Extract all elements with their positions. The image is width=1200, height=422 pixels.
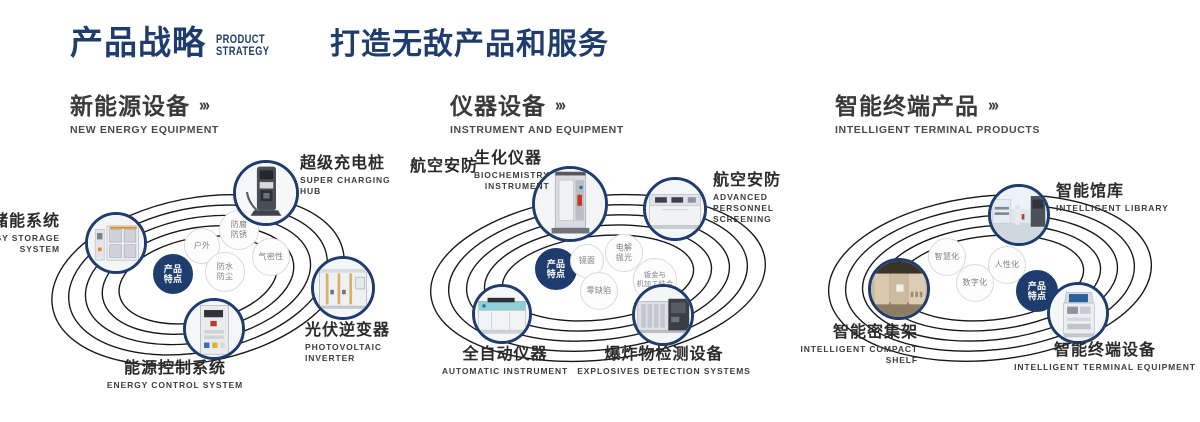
cluster-instrument-and-equipment: 产品 特点 镜面 电解 抛光 零缺陷 钣金与 机加工结合 [400,150,800,400]
node-energy-control-system[interactable] [183,298,245,360]
node-energy-storage-system[interactable] [85,212,147,274]
section-title-en-2: INTELLIGENT TERMINAL PRODUCTS [835,124,1040,136]
core-bubble-line1: 产品 [1028,281,1047,291]
node-automatic-instrument[interactable] [472,284,532,344]
feature-bubble-zero-defect: 零缺陷 [580,272,618,310]
label-automatic-instrument: 全自动仪器 AUTOMATIC INSTRUMENT [430,346,580,377]
label-energy-storage-system: 储能系统 ENERGY STORAGE SYSTEM [0,213,60,255]
explosives-detector-icon [635,287,691,343]
screening-machine-icon [646,180,704,238]
core-bubble-line1: 产品 [547,259,566,269]
library-room-icon [991,187,1047,243]
label-advanced-personnel-screening: 航空安防 ADVANCED PERSONNEL SCREENING [713,172,800,225]
section-title-cn-0: 新能源设备 [70,94,190,119]
control-cabinet-icon [186,301,242,357]
self-service-kiosk-icon [1050,285,1106,341]
cluster-intelligent-terminal-products: 产品 特点 智慧化 数字化 人性化 [800,150,1200,400]
product-strategy-infographic: 产品战略 PRODUCT STRATEGY 打造无敌产品和服务 新能源设备 ››… [0,0,1200,422]
node-photovoltaic-inverter[interactable] [311,256,375,320]
label-photovoltaic-inverter: 光伏逆变器 PHOTOVOLTAIC INVERTER [305,322,400,364]
compact-shelf-icon [871,261,927,317]
label-intelligent-terminal-equipment: 智能终端设备 INTELLIGENT TERMINAL EQUIPMENT [1010,342,1200,373]
node-intelligent-terminal-equipment[interactable] [1047,282,1109,344]
core-bubble-line2: 特点 [164,274,183,284]
page-title-en: PRODUCT STRATEGY [216,33,269,57]
core-bubble-line1: 产品 [164,264,183,274]
node-intelligent-compact-shelf[interactable] [868,258,930,320]
node-intelligent-library[interactable] [988,184,1050,246]
feature-bubble-airtight: 气密性 [252,238,290,276]
section-header-new-energy: 新能源设备 ››› NEW ENERGY EQUIPMENT [70,94,219,136]
section-header-intelligent-terminal: 智能终端产品 ››› INTELLIGENT TERMINAL PRODUCTS [835,94,1040,136]
core-bubble-product-features: 产品 特点 [153,254,193,294]
label-aviation-security-left: 航空安防 [410,158,478,176]
page-title-cn: 产品战略 [70,26,206,59]
section-title-cn-1: 仪器设备 [450,94,546,119]
feature-bubble-waterproof: 防水 防尘 [205,252,245,292]
section-title-en-1: INSTRUMENT AND EQUIPMENT [450,124,624,136]
page-title: 产品战略 PRODUCT STRATEGY [70,26,284,59]
chevrons-right-icon: ››› [555,97,564,116]
cluster-new-energy-equipment: 产品 特点 户外 防腐 防锈 防水 防尘 气密性 [0,150,400,400]
section-title-cn-2: 智能终端产品 [835,94,979,119]
section-title-en-0: NEW ENERGY EQUIPMENT [70,124,219,136]
page-slogan: 打造无敌产品和服务 [330,28,609,61]
page-title-en-line2: STRATEGY [216,45,269,57]
chevrons-right-icon: ››› [199,97,208,116]
inverter-cabinet-icon [314,259,372,317]
label-intelligent-library: 智能馆库 INTELLIGENT LIBRARY [1056,183,1169,214]
feature-bubble-humanized: 人性化 [988,246,1026,284]
core-bubble-line2: 特点 [1028,291,1047,301]
charging-pile-icon [236,163,296,223]
label-biochemistry-instrument: 生化仪器 BIOCHEMISTRY INSTRUMENT [474,150,550,192]
node-advanced-personnel-screening[interactable] [643,177,707,241]
core-bubble-line2: 特点 [547,269,566,279]
label-explosives-detection-systems: 爆炸物检测设备 EXPLOSIVES DETECTION SYSTEMS [572,346,756,377]
section-header-instrument: 仪器设备 ››› INSTRUMENT AND EQUIPMENT [450,94,624,136]
battery-cabinet-icon [88,215,144,271]
label-super-charging-hub: 超级充电桩 SUPER CHARGING HUB [300,155,400,197]
node-super-charging-hub[interactable] [233,160,299,226]
label-energy-control-system: 能源控制系统 ENERGY CONTROL SYSTEM [80,360,270,391]
chevrons-right-icon: ››› [988,97,997,116]
node-explosives-detection-systems[interactable] [632,284,694,346]
label-intelligent-compact-shelf: 智能密集架 INTELLIGENT COMPACT SHELF [788,324,918,366]
automatic-analyzer-icon [475,287,529,341]
